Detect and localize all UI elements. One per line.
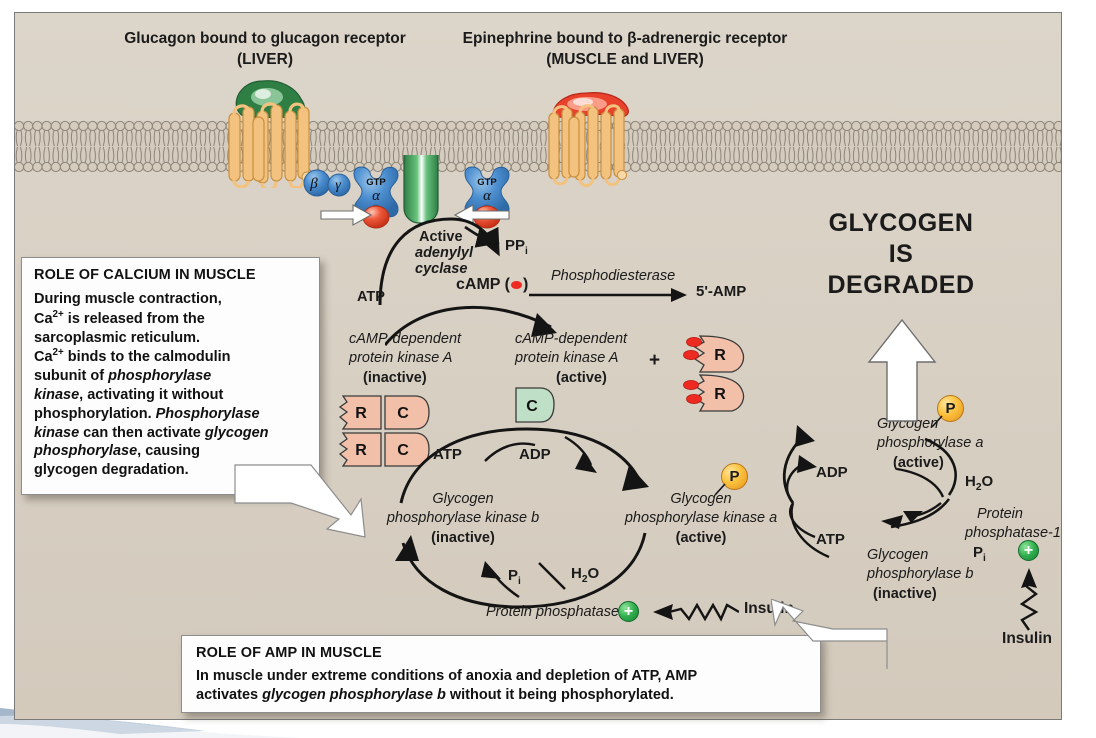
- kinase-cycle-water-o: O: [588, 565, 600, 582]
- activation-plus-badge-right: +: [1018, 540, 1039, 561]
- phos-pi-main: P: [973, 544, 983, 561]
- active-adenylyl-cyclase-label-line1: Active: [419, 229, 463, 245]
- figure-canvas: {} Glucagon bound to glucagon receptor (…: [0, 0, 1096, 738]
- active-adenylyl-cyclase-label-line2: adenylyl: [415, 245, 473, 261]
- camp-activates-pka-arrow: [385, 297, 595, 357]
- pka-inactive-line2: protein kinase A: [349, 350, 452, 366]
- insulin-label-right: Insulin: [1002, 630, 1052, 647]
- phos-pi-subscript: i: [983, 553, 986, 564]
- kinase-b-line1: Glycogen: [432, 491, 493, 507]
- camp-paren-close: ): [523, 276, 528, 293]
- callout-amp-pointer-tail: [771, 599, 891, 669]
- callout-role-of-amp-in-muscle: ROLE OF AMP IN MUSCLE In muscle under ex…: [181, 635, 821, 713]
- svg-text:R: R: [714, 386, 726, 403]
- protein-phosphatase-1-label-left: Protein phosphatase-1: [486, 604, 632, 620]
- callout-calcium-pointer-tail: [233, 463, 373, 553]
- protein-phosphatase-1-label-right-line1: Protein: [977, 506, 1023, 522]
- kinase-cycle-pi: Pi: [508, 568, 521, 587]
- callout-amp-heading: ROLE OF AMP IN MUSCLE: [196, 645, 806, 661]
- kinase-b-line2: phosphorylase kinase b: [387, 510, 539, 526]
- diagram-panel: {} Glucagon bound to glucagon receptor (…: [14, 12, 1062, 720]
- svg-text:GTP: GTP: [366, 177, 386, 188]
- ppi-main: PP: [505, 237, 525, 254]
- camp-text: cAMP: [456, 276, 500, 293]
- phosphorylase-cycle-adp: ADP: [816, 465, 848, 482]
- active-adenylyl-cyclase-label-line3: cyclase: [415, 261, 467, 277]
- callout-amp-body: In muscle under extreme conditions of an…: [196, 667, 806, 705]
- callout-calcium-heading: ROLE OF CALCIUM IN MUSCLE: [34, 267, 307, 283]
- outcome-line1: GLYCOGEN: [829, 209, 974, 237]
- phosphorylase-cycle-water: H2O: [965, 474, 993, 493]
- kinase-cycle-water: H2O: [571, 566, 599, 585]
- camp-label: cAMP (): [456, 276, 528, 294]
- kinase-cycle-pi-main: P: [508, 567, 518, 584]
- page-title-left-line1: Glucagon bound to glucagon receptor: [124, 30, 406, 47]
- callout-amp-line1: In muscle under extreme conditions of an…: [196, 668, 697, 684]
- pka-regulatory-dimer-with-camp: R R: [680, 333, 754, 415]
- outcome-line2: IS: [889, 240, 914, 268]
- phosphodiesterase-label: Phosphodiesterase: [551, 268, 675, 284]
- phosphate-tick-kinase-a: [712, 483, 728, 497]
- svg-text:GTP: GTP: [477, 177, 497, 188]
- callout-amp-line2-italic: glycogen phosphorylase b: [262, 687, 446, 703]
- activation-plus-badge-left: +: [618, 601, 639, 622]
- kinase-cycle-adp: ADP: [519, 447, 551, 464]
- camp-molecule-dot-icon: [511, 281, 522, 289]
- pka-inactive-state: (inactive): [363, 370, 427, 386]
- callout-role-of-calcium-in-muscle: ROLE OF CALCIUM IN MUSCLE During muscle …: [21, 257, 320, 495]
- kinase-cycle-atp: ATP: [433, 447, 462, 464]
- 5-amp-label: 5'-AMP: [696, 284, 746, 301]
- svg-text:β: β: [309, 176, 318, 192]
- svg-text:α: α: [483, 188, 492, 204]
- kinase-a-line2: phosphorylase kinase a: [625, 510, 777, 526]
- pka-active-line1: cAMP-dependent: [515, 331, 627, 347]
- atp-label-cyclase: ATP: [357, 289, 385, 305]
- phos-water-o: O: [982, 473, 994, 490]
- kinase-cycle-water-h: H: [571, 565, 582, 582]
- phosphorylase-b-line2: phosphorylase b: [867, 566, 973, 582]
- phosphorylase-cycle-atp: ATP: [816, 532, 845, 549]
- svg-text:γ: γ: [335, 178, 341, 193]
- phosphorylase-a-state: (active): [893, 455, 944, 471]
- insulin-inhibition-arrow-left: [643, 601, 739, 623]
- outcome-line3: DEGRADED: [827, 271, 974, 299]
- ppi-subscript: i: [525, 246, 528, 257]
- phosphorylase-a-line2: phosphorylase a: [877, 435, 983, 451]
- phos-water-h: H: [965, 473, 976, 490]
- page-title-right-line2: (MUSCLE and LIVER): [546, 51, 704, 68]
- camp-paren-open: (: [505, 276, 510, 293]
- callout-amp-line2-a: activates: [196, 687, 262, 703]
- insulin-activation-arrow-right: [1018, 564, 1040, 632]
- pka-active-line2: protein kinase A: [515, 350, 618, 366]
- svg-text:R: R: [355, 405, 367, 422]
- up-arrow-glycogen-degraded: [867, 318, 937, 423]
- callout-calcium-body: During muscle contraction, Ca2+ is relea…: [34, 290, 307, 480]
- svg-text:R: R: [714, 347, 726, 364]
- kinase-cycle-pi-subscript: i: [518, 576, 521, 587]
- page-title-right-line1: Epinephrine bound to β-adrenergic recept…: [463, 30, 788, 47]
- pka-active-state: (active): [556, 370, 607, 386]
- pka-plus-sign: +: [649, 350, 660, 371]
- phosphorylase-b-line1: Glycogen: [867, 547, 928, 563]
- protein-phosphatase-1-label-right-line2: phosphatase-1: [965, 525, 1061, 541]
- svg-text:R: R: [355, 442, 367, 459]
- pka-inactive-line1: cAMP-dependent: [349, 331, 461, 347]
- kinase-a-state: (active): [676, 530, 727, 546]
- page-title-left-line2: (LIVER): [237, 51, 293, 68]
- svg-text:α: α: [372, 188, 381, 204]
- callout-amp-line2-b: without it being phosphorylated.: [446, 687, 674, 703]
- kinase-b-state: (inactive): [431, 530, 495, 546]
- ppi-label: PPi: [505, 238, 528, 257]
- phosphorylase-cycle-pi: Pi: [973, 545, 986, 564]
